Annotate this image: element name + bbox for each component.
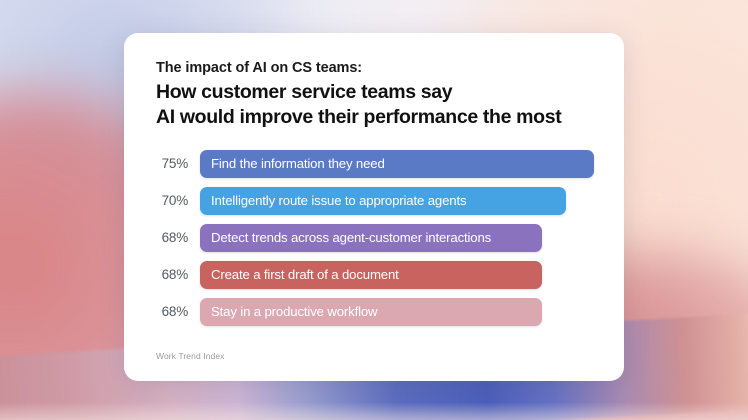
bar: Find the information they need — [200, 150, 594, 178]
source-caption: Work Trend Index — [156, 351, 225, 361]
chart-row: 75%Find the information they need — [156, 150, 594, 178]
headline-line-2: AI would improve their performance the m… — [156, 105, 594, 130]
slide-canvas: The impact of AI on CS teams: How custom… — [0, 0, 748, 420]
kicker-text: The impact of AI on CS teams: — [156, 59, 594, 77]
chart-row: 68%Create a first draft of a document — [156, 261, 594, 289]
bar-chart: 75%Find the information they need70%Inte… — [156, 150, 594, 326]
bar-category-label: Stay in a productive workflow — [211, 304, 377, 319]
bar-category-label: Detect trends across agent-customer inte… — [211, 230, 491, 245]
chart-row: 68%Stay in a productive workflow — [156, 298, 594, 326]
bar-value-label: 75% — [156, 156, 200, 171]
background-band-fade — [0, 402, 748, 420]
headline-line-1: How customer service teams say — [156, 80, 594, 105]
chart-row: 68%Detect trends across agent-customer i… — [156, 224, 594, 252]
bar: Stay in a productive workflow — [200, 298, 542, 326]
bar: Intelligently route issue to appropriate… — [200, 187, 566, 215]
bar-value-label: 70% — [156, 193, 200, 208]
bar-category-label: Create a first draft of a document — [211, 267, 399, 282]
bar: Detect trends across agent-customer inte… — [200, 224, 542, 252]
bar-value-label: 68% — [156, 230, 200, 245]
bar: Create a first draft of a document — [200, 261, 542, 289]
chart-row: 70%Intelligently route issue to appropri… — [156, 187, 594, 215]
bar-category-label: Find the information they need — [211, 156, 385, 171]
content-card: The impact of AI on CS teams: How custom… — [124, 33, 624, 381]
bar-value-label: 68% — [156, 304, 200, 319]
bar-category-label: Intelligently route issue to appropriate… — [211, 193, 466, 208]
bar-value-label: 68% — [156, 267, 200, 282]
page-title: How customer service teams say AI would … — [156, 80, 594, 130]
